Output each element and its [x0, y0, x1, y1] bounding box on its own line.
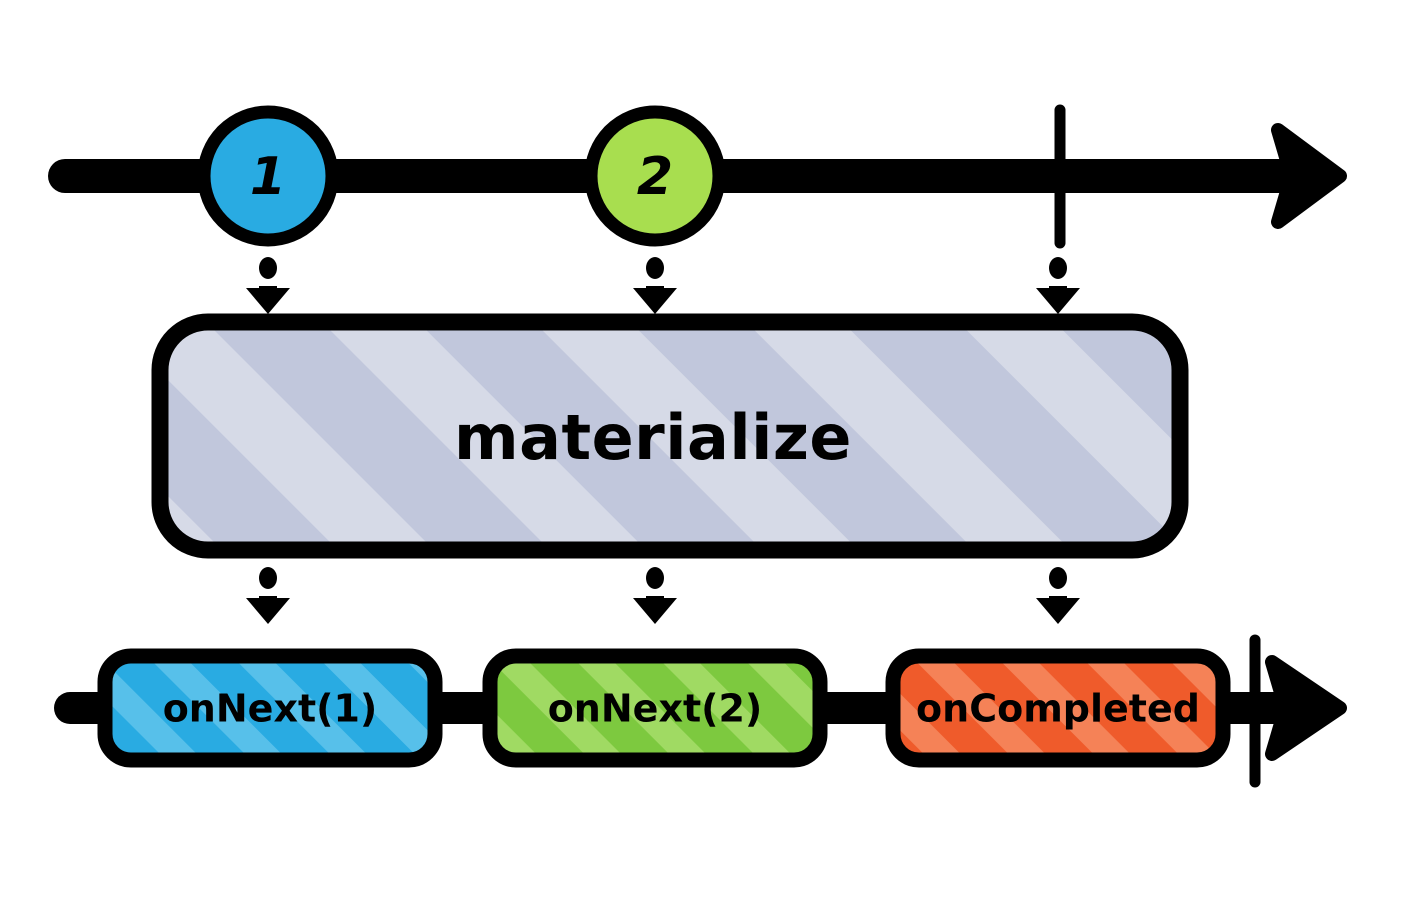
connector-arrowhead: [1036, 288, 1080, 314]
marble-diagram-root: 1 2 mater: [0, 0, 1401, 901]
source-timeline-arrowhead: [1278, 130, 1340, 222]
operator-box[interactable]: materialize: [160, 322, 1180, 550]
notification-onnext-1[interactable]: onNext(1): [105, 656, 435, 760]
connector-dot: [1049, 257, 1067, 279]
marble-value-label: 1: [250, 147, 286, 207]
connector-arrowhead: [246, 288, 290, 314]
marble-diagram-canvas: 1 2 mater: [0, 0, 1401, 901]
notification-oncompleted[interactable]: onCompleted: [893, 656, 1223, 760]
notification-label: onCompleted: [916, 687, 1200, 731]
notification-label: onNext(1): [163, 687, 378, 731]
connector-top-2: [633, 257, 677, 314]
notification-label: onNext(2): [548, 687, 763, 731]
connector-top-3: [1036, 257, 1080, 314]
connector-dot: [646, 567, 664, 589]
connector-arrowhead: [633, 288, 677, 314]
connector-dot: [259, 257, 277, 279]
connector-bottom-2: [633, 567, 677, 624]
connector-arrowhead: [1036, 598, 1080, 624]
notification-onnext-2[interactable]: onNext(2): [490, 656, 820, 760]
connector-bottom-1: [246, 567, 290, 624]
connector-dot: [1049, 567, 1067, 589]
upper-connectors: [246, 257, 1080, 314]
connector-bottom-3: [1036, 567, 1080, 624]
marble-value-label: 2: [637, 147, 673, 207]
connector-dot: [646, 257, 664, 279]
connector-arrowhead: [246, 598, 290, 624]
source-marble-2[interactable]: 2: [591, 112, 719, 240]
connector-arrowhead: [633, 598, 677, 624]
output-timeline-arrowhead: [1272, 662, 1340, 754]
source-marble-1[interactable]: 1: [204, 112, 332, 240]
operator-box-label: materialize: [454, 401, 852, 474]
lower-connectors: [246, 567, 1080, 624]
connector-dot: [259, 567, 277, 589]
connector-top-1: [246, 257, 290, 314]
